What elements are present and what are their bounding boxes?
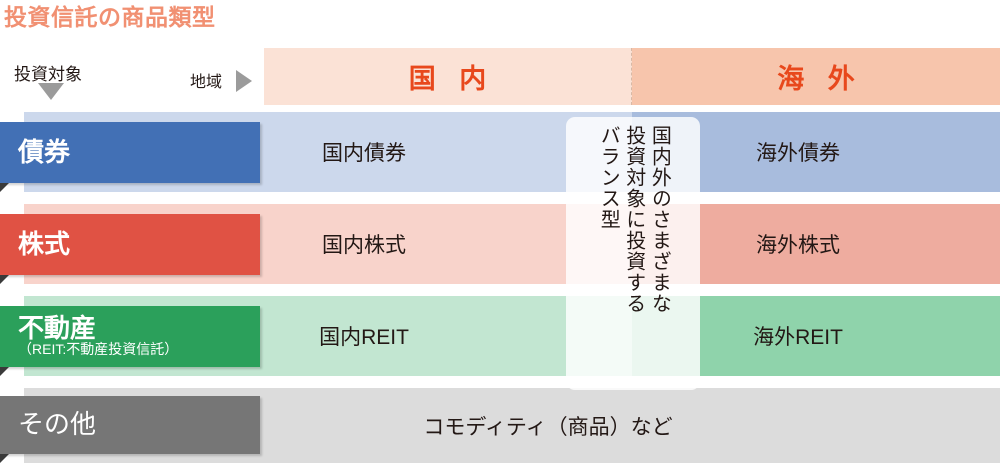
tab-shadow-notch <box>0 275 9 284</box>
tab-shadow-notch <box>0 367 9 376</box>
cell-text: 海外REIT <box>753 321 843 351</box>
cell-text: 海外株式 <box>756 229 840 259</box>
right-triangle-icon <box>236 70 252 92</box>
down-triangle-icon <box>38 83 64 100</box>
row-label-text: 株式 <box>18 231 260 258</box>
row-label-bond: 債券 <box>0 122 260 183</box>
row-label-text: その他 <box>18 411 260 438</box>
cell-text: 国内株式 <box>322 229 406 259</box>
page-title: 投資信託の商品類型 <box>4 0 216 32</box>
cell-text: コモディティ（商品）など <box>423 411 672 441</box>
row-label-text: 債券 <box>18 139 260 166</box>
balance-line-2: 投資対象に投資する <box>621 125 645 314</box>
cell-text: 国内REIT <box>319 321 409 351</box>
tab-shadow-notch <box>0 183 9 192</box>
tab-shadow-notch <box>0 454 9 463</box>
header-cell-overseas: 海 外 <box>632 48 1000 105</box>
balance-line-1: 国内外のさまざまな <box>647 125 671 314</box>
row-label-equity: 株式 <box>0 214 260 275</box>
header-cell-domestic: 国 内 <box>264 48 632 105</box>
row-label-reit: 不動産 （REIT:不動産投資信託） <box>0 306 260 367</box>
balance-type-callout: 国内外のさまざまな 投資対象に投資する バランス型 <box>566 117 700 390</box>
row-axis-label: 投資対象 <box>14 60 82 85</box>
row-label-subtext: （REIT:不動産投資信託） <box>18 342 260 357</box>
cell-text: 海外債券 <box>756 137 840 167</box>
table-header: 国 内 海 外 <box>264 48 1000 105</box>
row-label-text: 不動産 <box>18 315 260 342</box>
row-label-other: その他 <box>0 396 260 454</box>
column-axis-label: 地域 <box>190 68 222 92</box>
cell-text: 国内債券 <box>322 137 406 167</box>
balance-line-3: バランス型 <box>596 125 620 230</box>
